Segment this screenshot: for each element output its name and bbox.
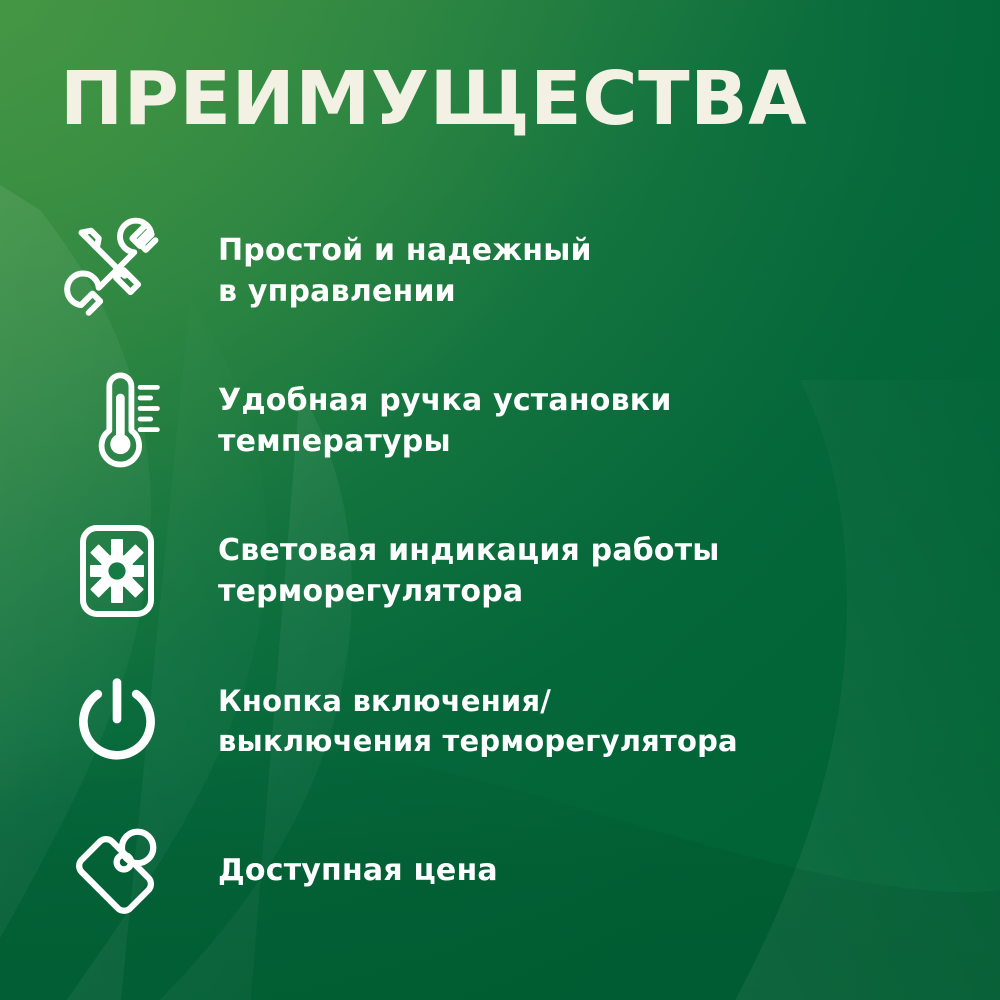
feature-row: Удобная ручка установки температуры: [0, 346, 1000, 496]
feature-row: Кнопка включения/ выключения терморегуля…: [0, 646, 1000, 796]
feature-row: Доступная цена: [0, 796, 1000, 946]
advantages-poster: ПРЕИМУЩЕСТВА Простой и надежный в упр: [0, 0, 1000, 1000]
features-list: Простой и надежный в управлении: [0, 196, 1000, 946]
light-indicator-icon: [62, 516, 172, 626]
feature-label: Кнопка включения/ выключения терморегуля…: [218, 681, 738, 761]
price-tag-icon: [62, 816, 172, 926]
feature-row: Световая индикация работы терморегулятор…: [0, 496, 1000, 646]
feature-row: Простой и надежный в управлении: [0, 196, 1000, 346]
feature-label: Удобная ручка установки температуры: [218, 380, 672, 463]
feature-label: Простой и надежный в управлении: [218, 230, 592, 313]
thermometer-icon: [62, 366, 172, 476]
page-title: ПРЕИМУЩЕСТВА: [60, 62, 807, 136]
power-button-icon: [62, 666, 172, 776]
feature-label: Доступная цена: [218, 850, 498, 891]
feature-label: Световая индикация работы терморегулятор…: [218, 530, 720, 613]
tools-wrench-screwdriver-icon: [62, 216, 172, 326]
